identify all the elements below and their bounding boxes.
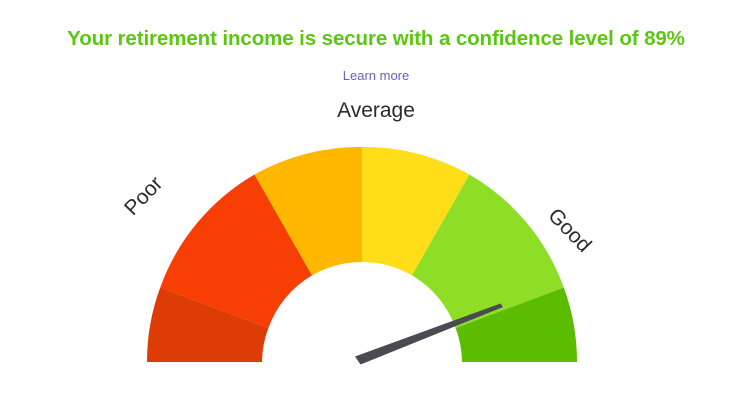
gauge-label-average: Average	[0, 99, 752, 123]
gauge-chart: Average Poor Good	[0, 0, 752, 412]
gauge-segments	[147, 147, 577, 362]
gauge-svg	[0, 0, 752, 412]
